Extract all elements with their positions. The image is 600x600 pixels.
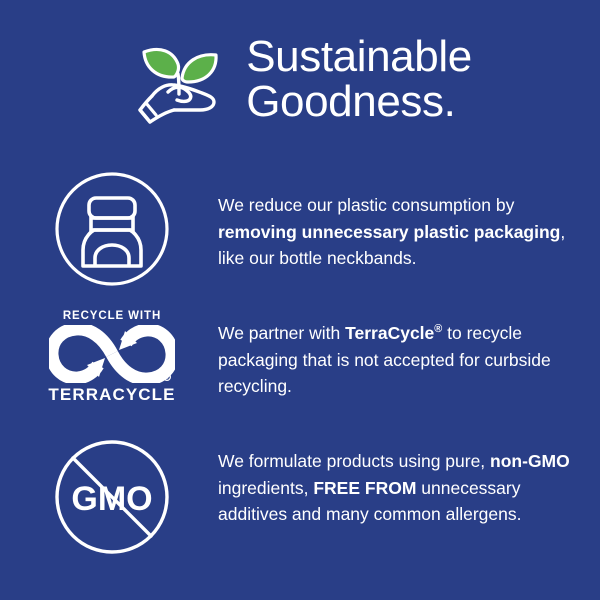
icon-cell-plastic (0, 170, 218, 288)
terracycle-bottom-label: TERRACYCLE (48, 385, 175, 405)
terracycle-logo: RECYCLE WITH R TERRACYCLE (48, 310, 176, 405)
text-part: We partner with (218, 323, 345, 343)
feature-text-plastic: We reduce our plastic consumption by rem… (218, 170, 600, 272)
feature-row-gmo: GMO We formulate products using pure, no… (0, 438, 600, 556)
terracycle-top-label: RECYCLE WITH (63, 310, 161, 322)
text-part: ingredients, (218, 478, 313, 498)
icon-cell-gmo: GMO (0, 438, 218, 556)
hand-holding-plant-icon (128, 32, 236, 132)
feature-row-terracycle: RECYCLE WITH R TERRACYCLE (0, 308, 600, 405)
text-part-bold: non-GMO (490, 451, 570, 471)
page-title: Sustainable Goodness. (246, 35, 472, 129)
gmo-label: GMO (71, 480, 152, 518)
header: Sustainable Goodness. (0, 22, 600, 142)
text-part: We formulate products using pure, (218, 451, 490, 471)
feature-text-gmo: We formulate products using pure, non-GM… (218, 438, 600, 528)
text-part-bold: removing unnecessary plastic packaging (218, 222, 560, 242)
infinity-arrows-icon: R (49, 325, 175, 383)
icon-cell-terracycle: RECYCLE WITH R TERRACYCLE (0, 308, 218, 405)
feature-text-terracycle: We partner with TerraCycle® to recycle p… (218, 308, 600, 400)
text-part: We reduce our plastic consumption by (218, 195, 514, 215)
title-line-2: Goodness. (246, 80, 472, 125)
text-part-bold: TerraCycle (345, 323, 434, 343)
title-line-1: Sustainable (246, 35, 472, 80)
plastic-bottle-in-circle-icon (53, 170, 171, 288)
text-part-bold: FREE FROM (313, 478, 416, 498)
svg-text:R: R (165, 375, 168, 380)
feature-row-plastic: We reduce our plastic consumption by rem… (0, 170, 600, 288)
sustainable-goodness-infographic: Sustainable Goodness. We reduce our plas… (0, 0, 600, 600)
no-gmo-in-circle-icon: GMO (53, 438, 171, 556)
